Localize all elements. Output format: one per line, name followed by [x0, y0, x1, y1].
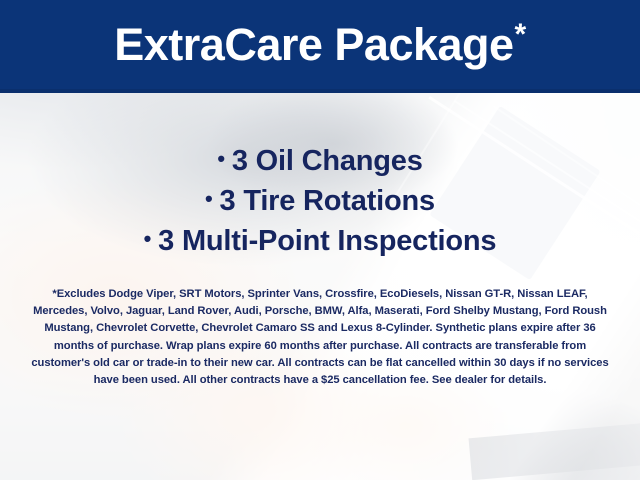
benefit-label: 3 Oil Changes: [232, 145, 423, 177]
bullet-icon: •: [205, 186, 213, 211]
disclaimer-text: *Excludes Dodge Viper, SRT Motors, Sprin…: [30, 286, 610, 389]
list-item: •3 Multi-Point Inspections: [0, 220, 640, 260]
benefit-label: 3 Multi-Point Inspections: [158, 225, 496, 257]
list-item: •3 Tire Rotations: [0, 180, 640, 220]
list-item: •3 Oil Changes: [0, 140, 640, 180]
page-title: ExtraCare Package*: [114, 20, 525, 67]
bullet-icon: •: [217, 146, 225, 171]
header-banner: ExtraCare Package*: [0, 0, 640, 93]
benefit-label: 3 Tire Rotations: [220, 185, 435, 217]
benefit-list: •3 Oil Changes •3 Tire Rotations •3 Mult…: [0, 140, 640, 260]
extracare-package-ad: ExtraCare Package* •3 Oil Changes •3 Tir…: [0, 0, 640, 480]
page-title-text: ExtraCare Package: [114, 19, 513, 70]
bullet-icon: •: [144, 226, 152, 251]
asterisk-marker: *: [515, 18, 526, 51]
